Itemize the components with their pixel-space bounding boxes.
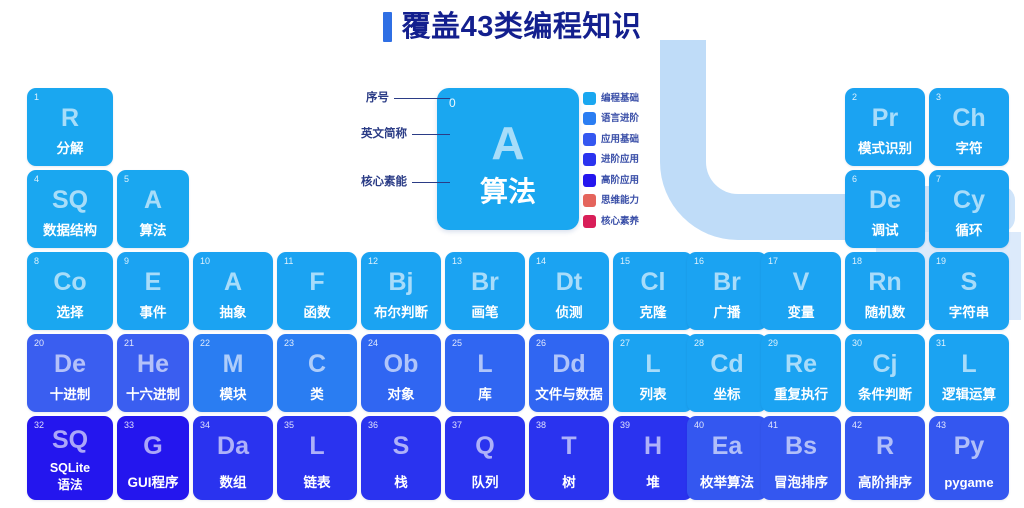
element-tile-number: 6 — [852, 174, 857, 185]
legend-swatch-icon — [583, 133, 596, 146]
element-tile-symbol: He — [117, 350, 189, 378]
element-tile-number: 26 — [536, 338, 546, 349]
element-tile-number: 16 — [694, 256, 704, 267]
element-tile-number: 17 — [768, 256, 778, 267]
element-tile-name: 循环 — [929, 223, 1009, 239]
element-tile-name: 克隆 — [613, 305, 693, 321]
element-tile[interactable]: 5A算法 — [117, 170, 189, 248]
element-tile-symbol: S — [929, 268, 1009, 296]
element-tile-symbol: Bs — [761, 432, 841, 460]
legend-item: 进阶应用 — [583, 150, 673, 171]
element-tile-symbol: Da — [193, 432, 273, 460]
element-tile-grid: 1R分解2Pr模式识别3Ch字符4SQ数据结构5A算法6De调试7Cy循环8Co… — [0, 0, 1024, 508]
element-tile-name: SQLite语法 — [27, 460, 113, 494]
element-tile[interactable]: 17V变量 — [761, 252, 841, 330]
legend-item-label: 编程基础 — [601, 93, 639, 104]
element-tile-name: 侦测 — [529, 305, 609, 321]
periodic-table-poster: 覆盖43类编程知识 序号英文简称核心素能 编程基础语言进阶应用基础进阶应用高阶应… — [0, 0, 1024, 508]
element-tile-number: 9 — [124, 256, 129, 267]
element-tile-name: 分解 — [27, 141, 113, 157]
element-tile-number: 27 — [620, 338, 630, 349]
element-tile-symbol: Co — [27, 268, 113, 296]
element-tile-name: 重复执行 — [761, 387, 841, 403]
element-tile-symbol: H — [613, 432, 693, 460]
element-tile[interactable]: 27L列表 — [613, 334, 693, 412]
element-tile-name: 条件判断 — [845, 387, 925, 403]
element-tile-symbol: Pr — [845, 104, 925, 132]
element-tile-name: 类 — [277, 387, 357, 403]
element-tile[interactable]: 28Cd坐标 — [687, 334, 767, 412]
page-title-text: 覆盖43类编程知识 — [402, 13, 642, 42]
element-tile-number: 15 — [620, 256, 630, 267]
callout-serial-number: 序号 — [366, 92, 450, 104]
element-tile[interactable]: 30Cj条件判断 — [845, 334, 925, 412]
element-tile-number: 28 — [694, 338, 704, 349]
element-tile[interactable]: 33GGUI程序 — [117, 416, 189, 500]
element-tile-symbol: De — [27, 350, 113, 378]
element-tile-name: 链表 — [277, 475, 357, 491]
element-tile[interactable]: 6De调试 — [845, 170, 925, 248]
element-tile-symbol: R — [845, 432, 925, 460]
element-tile-number: 23 — [284, 338, 294, 349]
element-tile-number: 20 — [34, 338, 44, 349]
element-tile-number: 19 — [936, 256, 946, 267]
element-tile-number: 7 — [936, 174, 941, 185]
element-tile-number: 8 — [34, 256, 39, 267]
element-tile-number: 10 — [200, 256, 210, 267]
element-tile-symbol: Cl — [613, 268, 693, 296]
legend-swatch-icon — [583, 215, 596, 228]
element-tile[interactable]: 20De十进制 — [27, 334, 113, 412]
element-tile-symbol: L — [613, 350, 693, 378]
element-tile[interactable]: 35L链表 — [277, 416, 357, 500]
element-tile-symbol: L — [277, 432, 357, 460]
element-tile[interactable]: 4SQ数据结构 — [27, 170, 113, 248]
element-tile-name: 字符 — [929, 141, 1009, 157]
element-tile-symbol: Dt — [529, 268, 609, 296]
callout-english-abbr-label: 英文简称 — [361, 128, 407, 140]
element-tile[interactable]: 22M模块 — [193, 334, 273, 412]
element-tile-symbol: C — [277, 350, 357, 378]
element-tile-number: 29 — [768, 338, 778, 349]
element-tile-number: 41 — [768, 420, 778, 431]
element-tile-name: 随机数 — [845, 305, 925, 321]
legend-swatch-icon — [583, 92, 596, 105]
element-tile-name: 事件 — [117, 305, 189, 321]
legend-item-label: 语言进阶 — [601, 113, 639, 124]
element-tile-number: 35 — [284, 420, 294, 431]
element-tile-number: 36 — [368, 420, 378, 431]
element-tile-symbol: L — [445, 350, 525, 378]
element-tile[interactable]: 25L库 — [445, 334, 525, 412]
element-tile-name: 高阶排序 — [845, 475, 925, 491]
element-tile[interactable]: 14Dt侦测 — [529, 252, 609, 330]
element-tile-symbol: L — [929, 350, 1009, 378]
element-tile-symbol: E — [117, 268, 189, 296]
element-tile-number: 2 — [852, 92, 857, 103]
element-tile-symbol: Ch — [929, 104, 1009, 132]
element-tile-name: 对象 — [361, 387, 441, 403]
element-tile-symbol: Ob — [361, 350, 441, 378]
element-tile[interactable]: 38T树 — [529, 416, 609, 500]
element-tile-name: 算法 — [117, 223, 189, 239]
element-tile-number: 40 — [694, 420, 704, 431]
element-tile-symbol: S — [361, 432, 441, 460]
element-tile-symbol: Br — [445, 268, 525, 296]
element-tile-name: 选择 — [27, 305, 113, 321]
element-tile-name: GUI程序 — [117, 475, 189, 491]
element-tile-symbol: SQ — [27, 426, 113, 454]
element-tile-name: 广播 — [687, 305, 767, 321]
element-tile-number: 22 — [200, 338, 210, 349]
element-tile-name: 函数 — [277, 305, 357, 321]
element-tile[interactable]: 31L逻辑运算 — [929, 334, 1009, 412]
category-legend: 编程基础语言进阶应用基础进阶应用高阶应用思维能力核心素养 — [583, 88, 673, 232]
element-tile-symbol: M — [193, 350, 273, 378]
legend-item: 应用基础 — [583, 129, 673, 150]
element-tile-number: 38 — [536, 420, 546, 431]
element-tile[interactable]: 32SQSQLite语法 — [27, 416, 113, 500]
element-tile-number: 34 — [200, 420, 210, 431]
title-accent-bar — [383, 12, 392, 42]
element-tile-number: 21 — [124, 338, 134, 349]
legend-swatch-icon — [583, 153, 596, 166]
element-tile-number: 4 — [34, 174, 39, 185]
element-tile-symbol: A — [117, 186, 189, 214]
callout-english-abbr-leader-line — [412, 134, 450, 135]
element-tile[interactable]: 10A抽象 — [193, 252, 273, 330]
element-tile-name: 模块 — [193, 387, 273, 403]
element-tile[interactable]: 8Co选择 — [27, 252, 113, 330]
element-tile-symbol: Cd — [687, 350, 767, 378]
element-tile[interactable]: 29Re重复执行 — [761, 334, 841, 412]
element-tile[interactable]: 43Pypygame — [929, 416, 1009, 500]
element-tile[interactable]: 26Dd文件与数据 — [529, 334, 609, 412]
legend-item-label: 高阶应用 — [601, 175, 639, 186]
element-tile-name: 库 — [445, 387, 525, 403]
legend-item-label: 进阶应用 — [601, 154, 639, 165]
element-tile[interactable]: 13Br画笔 — [445, 252, 525, 330]
element-tile-number: 5 — [124, 174, 129, 185]
element-tile[interactable]: 16Br广播 — [687, 252, 767, 330]
element-tile-name: pygame — [929, 475, 1009, 491]
legend-item: 编程基础 — [583, 88, 673, 109]
element-tile[interactable]: 37Q队列 — [445, 416, 525, 500]
element-tile-symbol: Ea — [687, 432, 767, 460]
element-tile[interactable]: 11F函数 — [277, 252, 357, 330]
element-tile-name: 列表 — [613, 387, 693, 403]
element-tile-symbol: F — [277, 268, 357, 296]
element-tile-number: 25 — [452, 338, 462, 349]
callout-core-skill: 核心素能 — [361, 176, 450, 188]
element-tile-number: 14 — [536, 256, 546, 267]
element-tile-number: 39 — [620, 420, 630, 431]
element-tile-name: 队列 — [445, 475, 525, 491]
element-tile-number: 1 — [34, 92, 39, 103]
element-tile[interactable]: 40Ea枚举算法 — [687, 416, 767, 500]
element-tile-name: 数组 — [193, 475, 273, 491]
element-tile-number: 30 — [852, 338, 862, 349]
element-tile-number: 37 — [452, 420, 462, 431]
element-tile[interactable]: 34Da数组 — [193, 416, 273, 500]
element-tile-symbol: T — [529, 432, 609, 460]
element-tile-number: 3 — [936, 92, 941, 103]
legend-item-label: 核心素养 — [601, 216, 639, 227]
element-tile[interactable]: 2Pr模式识别 — [845, 88, 925, 166]
element-tile[interactable]: 24Ob对象 — [361, 334, 441, 412]
element-tile-symbol: Rn — [845, 268, 925, 296]
legend-item: 思维能力 — [583, 191, 673, 212]
element-tile-number: 43 — [936, 420, 946, 431]
element-tile-name: 十进制 — [27, 387, 113, 403]
element-tile[interactable]: 12Bj布尔判断 — [361, 252, 441, 330]
element-tile-symbol: G — [117, 432, 189, 460]
element-tile-name: 抽象 — [193, 305, 273, 321]
legend-swatch-icon — [583, 174, 596, 187]
callout-group: 序号英文简称核心素能 — [350, 88, 450, 218]
element-tile-number: 12 — [368, 256, 378, 267]
element-tile-name: 布尔判断 — [361, 305, 441, 321]
legend-item: 语言进阶 — [583, 109, 673, 130]
element-tile-symbol: Re — [761, 350, 841, 378]
element-tile-number: 13 — [452, 256, 462, 267]
element-tile[interactable]: 9E事件 — [117, 252, 189, 330]
element-tile-number: 11 — [284, 256, 293, 267]
element-tile-symbol: Py — [929, 432, 1009, 460]
element-tile-name: 模式识别 — [845, 141, 925, 157]
element-tile-name: 堆 — [613, 475, 693, 491]
legend-swatch-icon — [583, 112, 596, 125]
page-title: 覆盖43类编程知识 — [0, 12, 1024, 42]
callout-english-abbr: 英文简称 — [361, 128, 450, 140]
element-tile-number: 24 — [368, 338, 378, 349]
element-tile-name: 画笔 — [445, 305, 525, 321]
callout-serial-number-leader-line — [394, 98, 450, 99]
element-tile-number: 31 — [936, 338, 946, 349]
element-tile[interactable]: 7Cy循环 — [929, 170, 1009, 248]
element-tile-name: 树 — [529, 475, 609, 491]
element-tile[interactable]: 15Cl克隆 — [613, 252, 693, 330]
element-tile[interactable]: 42R高阶排序 — [845, 416, 925, 500]
element-tile-symbol: A — [193, 268, 273, 296]
element-tile-name: 变量 — [761, 305, 841, 321]
element-tile-name: 逻辑运算 — [929, 387, 1009, 403]
legend-item-label: 应用基础 — [601, 134, 639, 145]
element-tile-symbol: Br — [687, 268, 767, 296]
element-tile-name: 十六进制 — [117, 387, 189, 403]
element-tile[interactable]: 41Bs冒泡排序 — [761, 416, 841, 500]
element-tile-number: 33 — [124, 420, 134, 431]
element-tile[interactable]: 21He十六进制 — [117, 334, 189, 412]
element-tile-name: 调试 — [845, 223, 925, 239]
element-tile-name: 冒泡排序 — [761, 475, 841, 491]
element-tile-symbol: Q — [445, 432, 525, 460]
element-tile-symbol: Cy — [929, 186, 1009, 214]
element-tile-name: 枚举算法 — [687, 475, 767, 491]
element-tile[interactable]: 19S字符串 — [929, 252, 1009, 330]
element-tile-symbol: Dd — [529, 350, 609, 378]
element-tile-symbol: SQ — [27, 186, 113, 214]
element-tile[interactable]: 3Ch字符 — [929, 88, 1009, 166]
element-tile-symbol: V — [761, 268, 841, 296]
element-tile[interactable]: 23C类 — [277, 334, 357, 412]
callout-core-skill-leader-line — [412, 182, 450, 183]
legend-item: 高阶应用 — [583, 170, 673, 191]
callout-core-skill-label: 核心素能 — [361, 176, 407, 188]
element-tile[interactable]: 18Rn随机数 — [845, 252, 925, 330]
element-tile-name: 字符串 — [929, 305, 1009, 321]
element-tile-symbol: Bj — [361, 268, 441, 296]
element-tile[interactable]: 1R分解 — [27, 88, 113, 166]
element-tile-name: 文件与数据 — [529, 387, 609, 403]
element-tile-number: 18 — [852, 256, 862, 267]
element-tile-name: 数据结构 — [27, 223, 113, 239]
legend-swatch-icon — [583, 194, 596, 207]
element-tile[interactable]: 36S栈 — [361, 416, 441, 500]
legend-item: 核心素养 — [583, 211, 673, 232]
legend-item-label: 思维能力 — [601, 195, 639, 206]
element-tile-symbol: De — [845, 186, 925, 214]
element-tile-symbol: R — [27, 104, 113, 132]
element-tile-name: 栈 — [361, 475, 441, 491]
element-tile-symbol: Cj — [845, 350, 925, 378]
callout-serial-number-label: 序号 — [366, 92, 389, 104]
element-tile[interactable]: 39H堆 — [613, 416, 693, 500]
element-tile-name: 坐标 — [687, 387, 767, 403]
element-tile-number: 42 — [852, 420, 862, 431]
